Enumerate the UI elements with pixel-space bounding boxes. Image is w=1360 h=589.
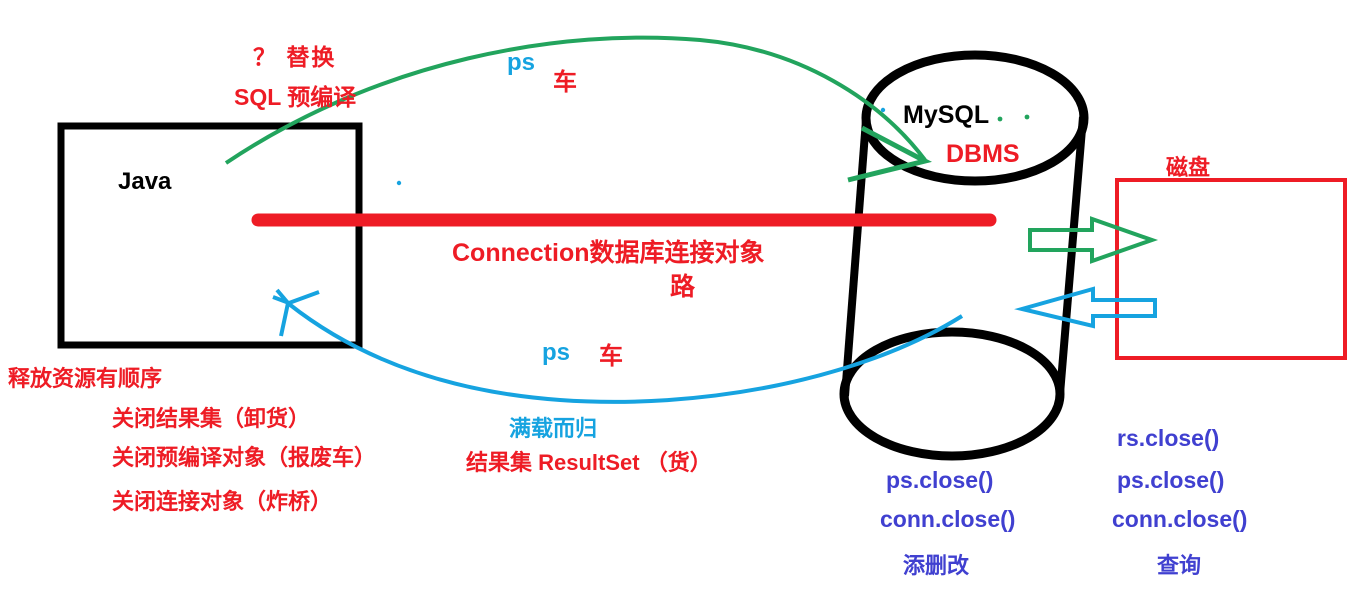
release-step-2: 关闭预编译对象（报废车） — [112, 445, 376, 470]
road-label: 路 — [670, 273, 695, 302]
release-step-3: 关闭连接对象（炸桥） — [112, 489, 332, 514]
ps-label-bottom: ps — [542, 339, 570, 367]
che-label-top: 车 — [553, 69, 577, 97]
disk-write-arrow — [1030, 219, 1152, 261]
stray-dot-2 — [998, 117, 1003, 122]
java-box-label: Java — [118, 168, 171, 196]
dbms-label: DBMS — [946, 140, 1020, 169]
stray-dot-1 — [397, 181, 401, 185]
read-close-line-1: rs.close() — [1117, 425, 1219, 451]
read-close-line-3: conn.close() — [1112, 506, 1247, 532]
disk-read-arrow — [1022, 289, 1155, 326]
write-close-line-2: conn.close() — [880, 506, 1015, 532]
precompile-note-label: SQL 预编译 — [234, 84, 356, 110]
stray-dot-3 — [1025, 115, 1030, 120]
placeholder-note-label: ？ 替换 — [253, 44, 336, 70]
connection-object-label: Connection数据库连接对象 — [452, 239, 765, 268]
read-close-line-2: ps.close() — [1117, 467, 1224, 493]
diagram-canvas: Java ？ 替换 SQL 预编译 ps 车 MySQL DBMS 磁盘 Con… — [0, 0, 1360, 589]
cylinder-bottom-ellipse — [844, 332, 1060, 456]
java-box — [61, 126, 359, 345]
disk-box — [1117, 180, 1345, 358]
release-step-1: 关闭结果集（卸货） — [112, 406, 310, 431]
mysql-label: MySQL — [903, 101, 989, 130]
che-label-bottom: 车 — [599, 343, 623, 371]
ps-label-top: ps — [507, 49, 535, 77]
write-close-line-1: ps.close() — [886, 467, 993, 493]
stray-dot-4 — [881, 108, 885, 112]
fully-loaded-label: 满载而归 — [509, 416, 597, 441]
write-close-caption: 添删改 — [903, 553, 969, 578]
read-close-caption: 查询 — [1157, 553, 1201, 578]
disk-box-label: 磁盘 — [1166, 155, 1210, 180]
resultset-label: 结果集 ResultSet （货） — [466, 450, 712, 475]
release-order-heading: 释放资源有顺序 — [8, 366, 162, 391]
